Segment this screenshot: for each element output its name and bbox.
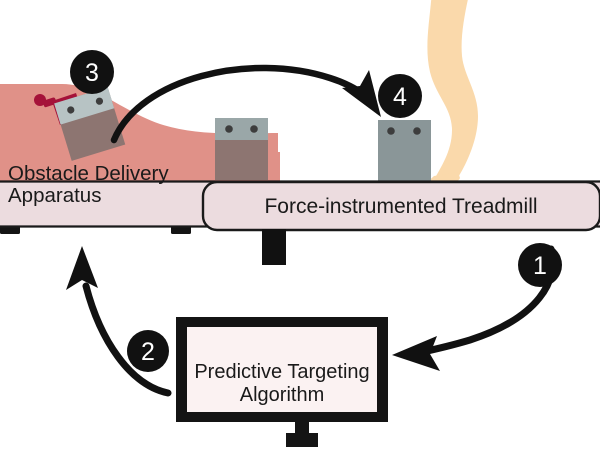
step-badge-1[interactable]: 1: [518, 243, 562, 287]
treadmill-pedestal: [262, 229, 286, 265]
step-badge-4[interactable]: 4: [378, 74, 422, 118]
predictive-targeting-algorithm: Predictive Targeting Algorithm: [176, 317, 388, 447]
algorithm-label-line1: Predictive Targeting: [194, 361, 369, 383]
step-badge-3[interactable]: 3: [70, 50, 114, 94]
algorithm-label-line2: Algorithm: [240, 384, 324, 406]
arrow-launch-head: [342, 70, 381, 117]
leg-shape: [427, 0, 478, 182]
step-badge-4-number: 4: [393, 83, 407, 111]
monitor-neck: [295, 420, 309, 436]
figure-container: Force-instrumented Treadmill Obstacle De…: [0, 0, 600, 465]
arrow-2-head: [66, 246, 98, 290]
step-badge-1-number: 1: [533, 252, 547, 280]
apparatus-label-line2: Apparatus: [8, 184, 101, 207]
step-badge-2-number: 2: [141, 338, 155, 366]
step-badge-2[interactable]: 2: [127, 330, 169, 372]
arrow-1-head: [392, 336, 440, 371]
treadmill-label: Force-instrumented Treadmill: [264, 195, 537, 218]
apparatus-label-line1: Obstacle Delivery: [8, 162, 169, 185]
obstacle-block-on-treadmill: [378, 120, 431, 182]
obstacle-block-midflight: [215, 118, 268, 180]
step-badge-3-number: 3: [85, 59, 99, 87]
diagram-canvas: Force-instrumented Treadmill Obstacle De…: [0, 0, 600, 465]
